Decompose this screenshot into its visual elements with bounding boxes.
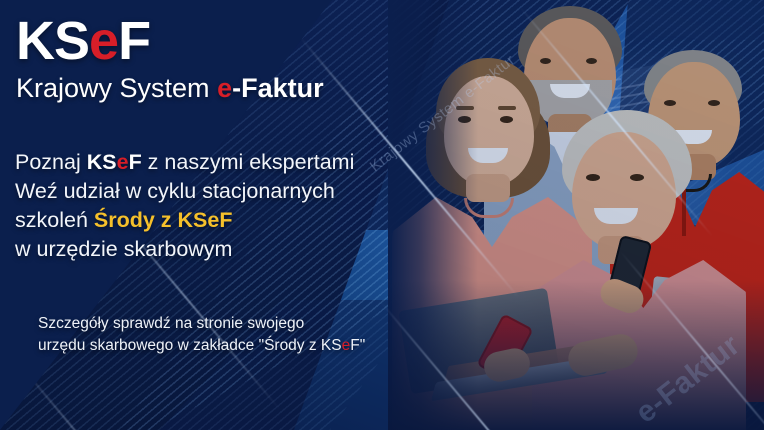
headline-srody-z-ksef: Środy z KSeF [94, 208, 233, 232]
logo-ks: KS [16, 11, 89, 71]
banner-content: KSeF Krajowy System e-Faktur Poznaj KSeF… [0, 0, 764, 430]
headline-poznaj: Poznaj [15, 150, 87, 174]
note-line-1: Szczegóły sprawdź na stronie swojego [38, 313, 365, 335]
note-ksef-e-accent: e [342, 337, 351, 354]
note-line2-prefix: urzędu skarbowego w zakładce "Środy z KS [38, 337, 342, 354]
logo-subtitle-faktur: -Faktur [232, 73, 324, 103]
headline: Poznaj KSeF z naszymi ekspertami Weź udz… [15, 148, 354, 264]
details-note: Szczegóły sprawdź na stronie swojego urz… [38, 313, 365, 357]
headline-ksef-e: e [117, 150, 129, 174]
note-line-2: urzędu skarbowego w zakładce "Środy z KS… [38, 335, 365, 357]
headline-ksef-ks: KS [87, 150, 117, 174]
headline-line-4: w urzędzie skarbowym [15, 235, 354, 264]
headline-line-3: szkoleń Środy z KSeF [15, 206, 354, 235]
headline-line-2: Weź udział w cyklu stacjonarnych [15, 177, 354, 206]
logo-wordmark: KSeF [16, 14, 324, 68]
ksef-promo-banner: Krajowy System e-Faktur e-Faktur KSeF Kr… [0, 0, 764, 430]
logo-subtitle-e-accent: e [217, 73, 232, 103]
logo-e-accent: e [89, 11, 118, 71]
headline-line1-rest: z naszymi ekspertami [142, 150, 355, 174]
headline-line-1: Poznaj KSeF z naszymi ekspertami [15, 148, 354, 177]
headline-ksef-f: F [129, 150, 142, 174]
ksef-logo: KSeF Krajowy System e-Faktur [16, 14, 324, 104]
logo-subtitle-prefix: Krajowy System [16, 73, 217, 103]
headline-szkolen: szkoleń [15, 208, 94, 232]
logo-subtitle: Krajowy System e-Faktur [16, 74, 324, 104]
note-line2-suffix: F" [350, 337, 365, 354]
logo-f: F [118, 11, 150, 71]
